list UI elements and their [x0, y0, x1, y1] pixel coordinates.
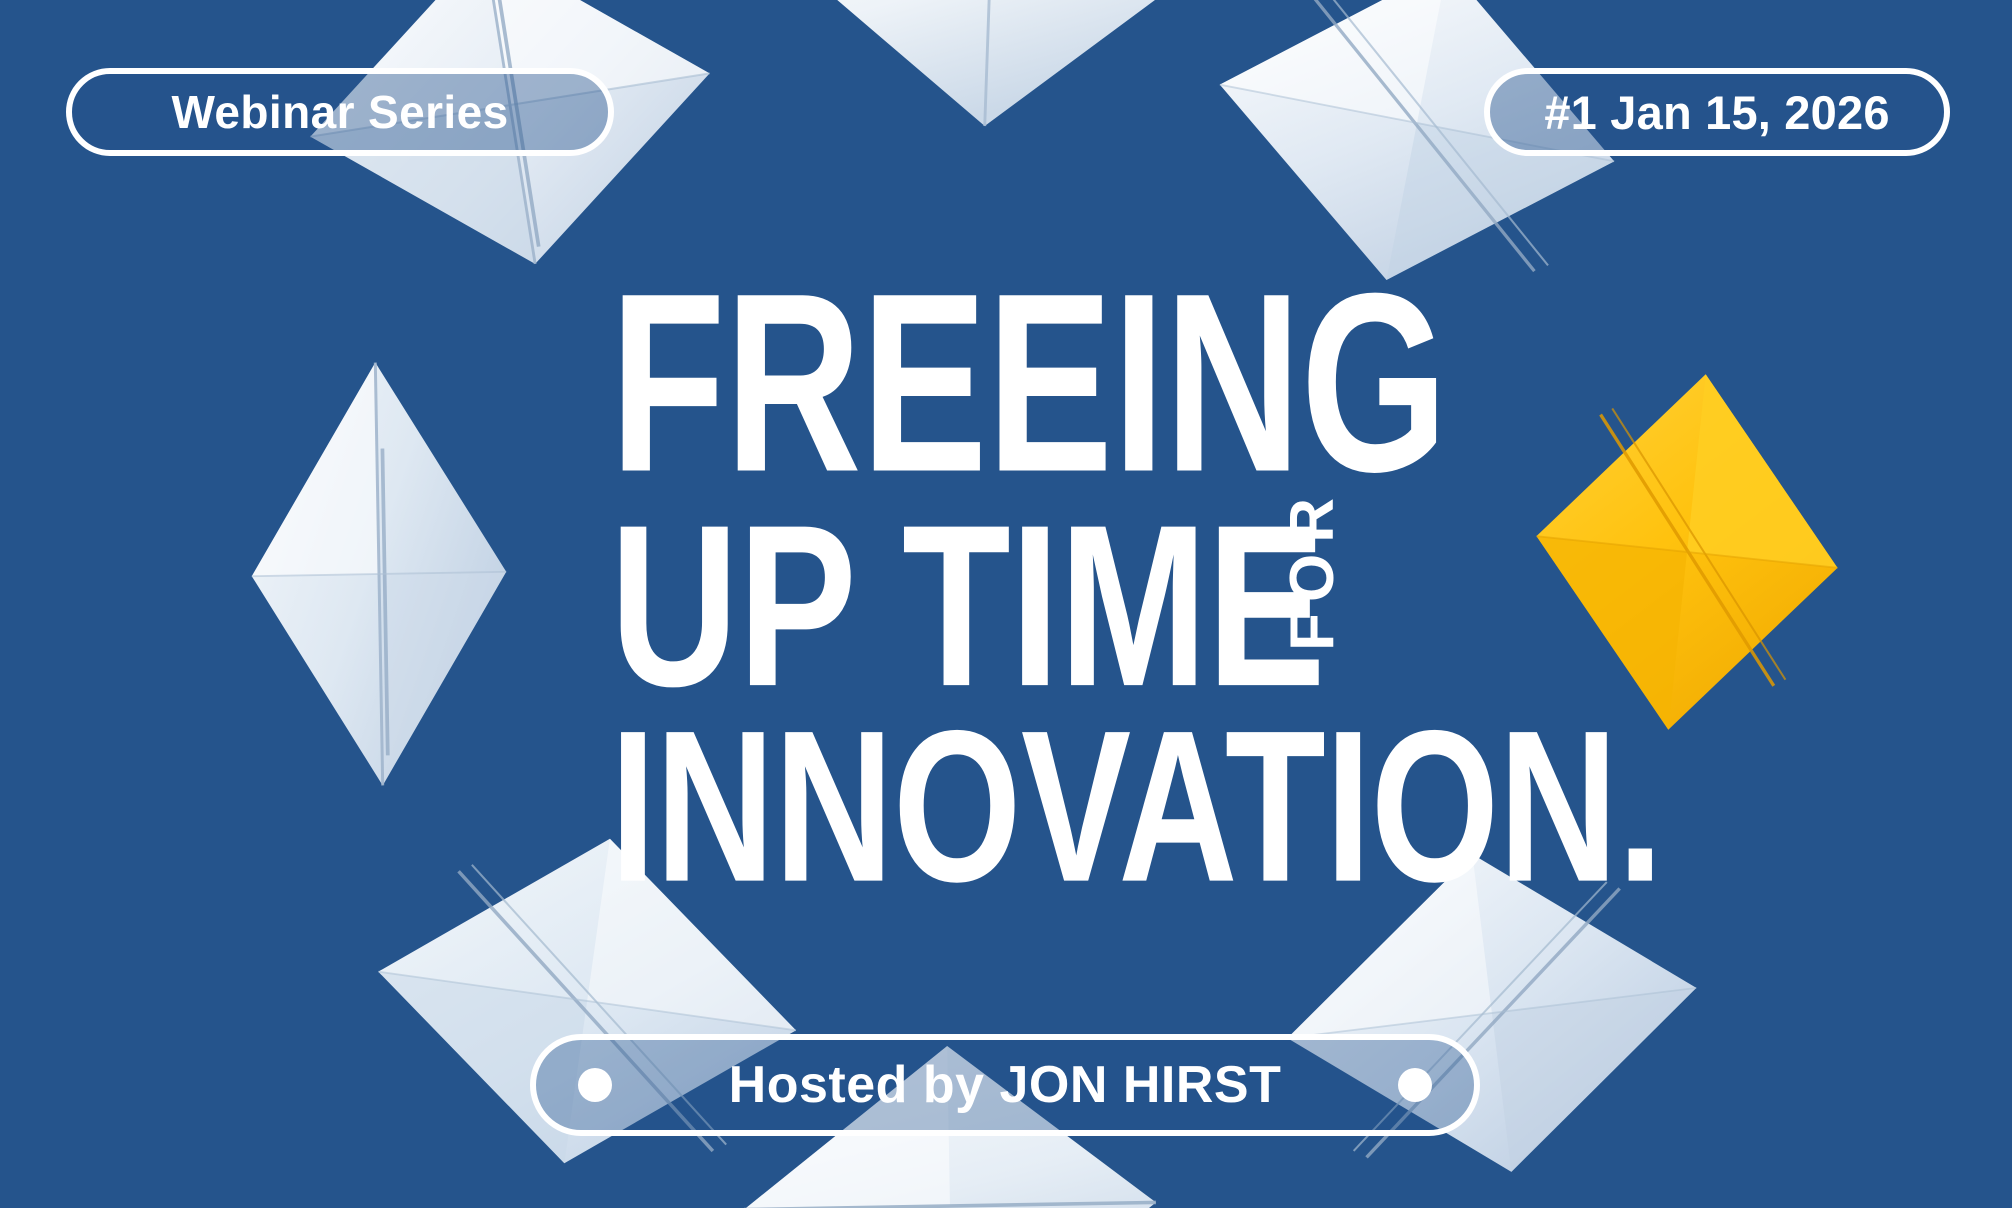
boat-left-icon: [244, 356, 513, 793]
badge-episode-date[interactable]: #1 Jan 15, 2026: [1484, 68, 1950, 156]
boat-top-center-icon: [785, 0, 1196, 137]
host-dot-left-icon: [578, 1068, 612, 1102]
badge-host[interactable]: Hosted by JON HIRST: [530, 1034, 1480, 1136]
webinar-promo-poster: FREEING UP TIME INNOVATION. FOR Webinar …: [0, 0, 2012, 1208]
badge-host-label: Hosted by JON HIRST: [729, 1055, 1282, 1115]
host-dot-right-icon: [1398, 1068, 1432, 1102]
headline-line-3: INNOVATION.: [610, 722, 1426, 895]
badge-webinar-series-label: Webinar Series: [171, 85, 508, 139]
headline-line-1: FREEING: [610, 282, 1401, 486]
headline-vertical-for: FOR: [1282, 487, 1344, 651]
badge-webinar-series[interactable]: Webinar Series: [66, 68, 614, 156]
badge-episode-date-label: #1 Jan 15, 2026: [1544, 85, 1889, 140]
